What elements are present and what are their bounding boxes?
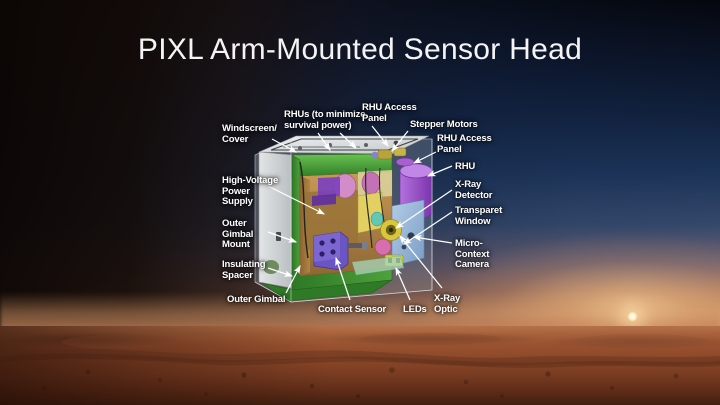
callout-label-x-ray-detector: X-Ray Detector	[455, 180, 492, 201]
stepper-motor-shaft	[372, 152, 379, 159]
hv-power-supply-part	[318, 177, 340, 197]
internal-component	[371, 212, 383, 226]
stepper-motor	[378, 150, 392, 159]
callout-label-insulating-spacer: Insulating Spacer	[222, 260, 265, 281]
callout-label-contact-sensor: Contact Sensor	[318, 305, 386, 316]
contact-sensor-face	[314, 232, 340, 262]
hv-power-supply-cable	[312, 194, 336, 206]
stepper-motor	[394, 148, 406, 156]
contact-sensor-arm	[348, 243, 362, 248]
callout-label-high-voltage-psu: High-Voltage Power Supply	[222, 176, 278, 208]
callout-label-outer-gimbal: Outer Gimbal	[227, 295, 285, 306]
callout-label-rhu-access-panel-top: RHU Access Panel	[362, 103, 417, 124]
callout-label-outer-gimbal-mount: Outer Gimbal Mount	[222, 219, 253, 251]
internal-roller	[362, 172, 380, 194]
optic-mount	[375, 239, 391, 255]
top-fastener	[364, 143, 368, 147]
contact-sensor-port	[330, 238, 335, 243]
contact-sensor-port	[319, 240, 324, 245]
callout-label-transparent-window: Transparet Window	[455, 206, 502, 227]
top-fastener	[328, 143, 332, 147]
contact-sensor-tip	[362, 242, 367, 250]
callout-label-micro-context-camera: Micro- Context Camera	[455, 239, 489, 271]
callout-label-rhu: RHU	[455, 162, 475, 173]
x-ray-optic-center	[389, 228, 393, 232]
instrument-body	[255, 136, 432, 302]
insulating-spacer-part	[263, 260, 279, 274]
contact-sensor-port	[319, 251, 324, 256]
top-fastener	[298, 146, 302, 150]
contact-sensor-port	[330, 249, 335, 254]
callout-label-stepper-motors: Stepper Motors	[410, 120, 478, 131]
callout-label-rhus-survival-power: RHUs (to minimize survival power)	[284, 110, 365, 131]
screenshot-root: PIXL Arm-Mounted Sensor Head	[0, 0, 720, 405]
callout-label-windscreen-cover: Windscreen/ Cover	[222, 124, 277, 145]
callout-label-x-ray-optic: X-Ray Optic	[434, 294, 460, 315]
camera-aperture	[402, 245, 407, 250]
callout-label-leds: LEDs	[403, 305, 427, 316]
callout-label-rhu-access-panel-right: RHU Access Panel	[437, 134, 492, 155]
pixl-instrument-diagram	[0, 0, 720, 405]
micro-context-camera-lens	[407, 232, 414, 239]
rhu-access-panel-part	[396, 158, 414, 166]
